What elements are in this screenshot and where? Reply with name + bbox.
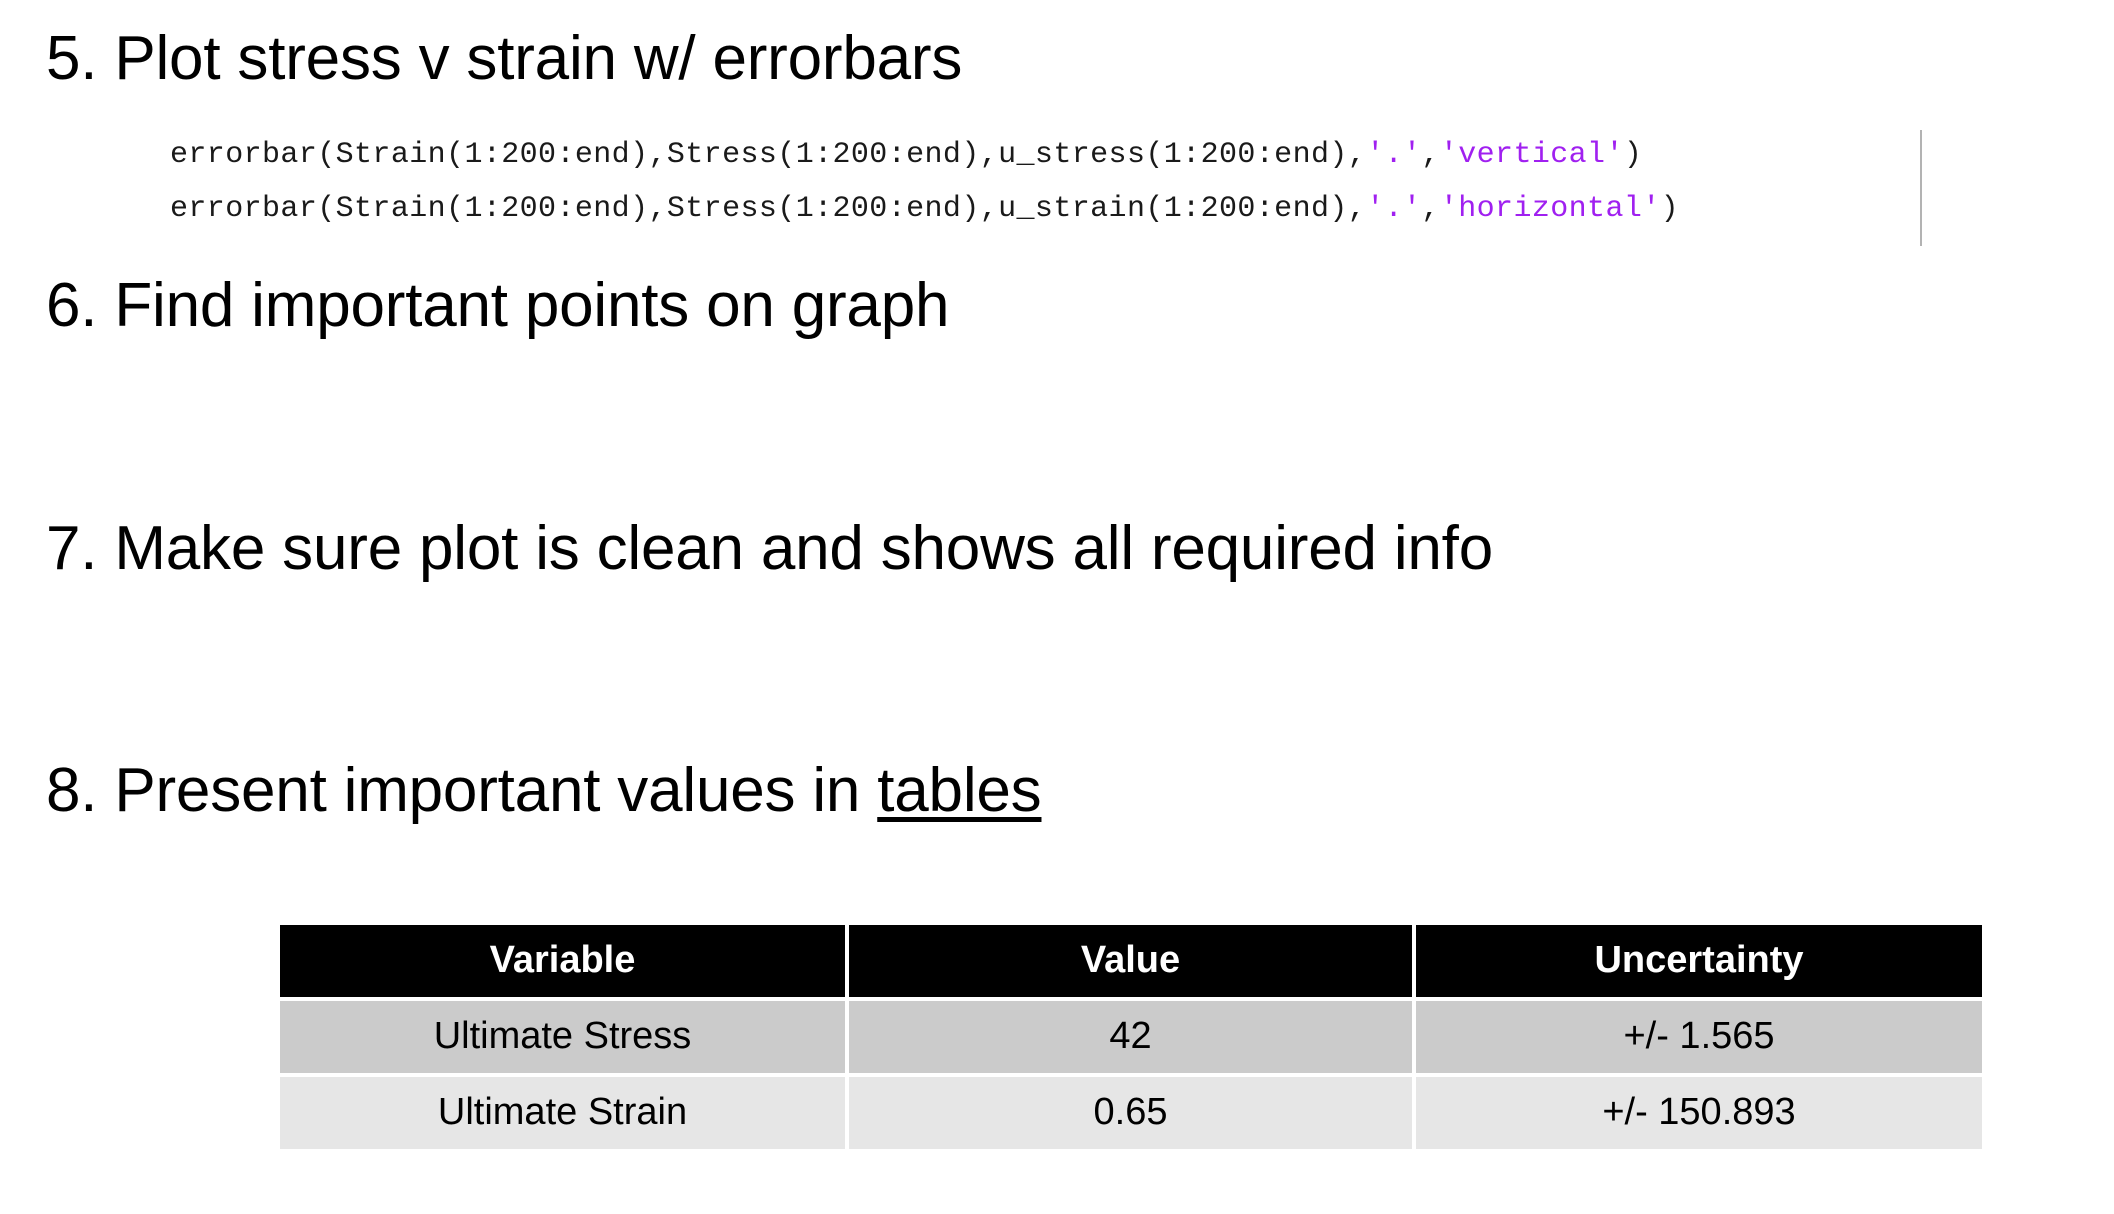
bullet-item-5: 5. Plot stress v strain w/ errorbars <box>46 28 962 90</box>
results-table-head: Variable Value Uncertainty <box>280 925 1982 997</box>
table-header-uncertainty: Uncertainty <box>1416 925 1982 997</box>
code-line-2-string-1: '.' <box>1366 192 1421 226</box>
bullet-item-8-emphasis: tables <box>877 756 1041 825</box>
table-cell-value: 42 <box>849 1001 1412 1073</box>
code-line-2-suffix: ) <box>1661 192 1679 226</box>
code-line-1-suffix: ) <box>1624 138 1642 172</box>
text-frame-edge <box>1920 130 1922 246</box>
code-line-2[interactable]: errorbar(Strain(1:200:end),Stress(1:200:… <box>170 182 1679 236</box>
table-cell-variable: Ultimate Strain <box>280 1077 845 1149</box>
table-header-variable: Variable <box>280 925 845 997</box>
code-line-1-string-1: '.' <box>1366 138 1421 172</box>
table-cell-variable: Ultimate Stress <box>280 1001 845 1073</box>
code-block[interactable]: errorbar(Strain(1:200:end),Stress(1:200:… <box>170 128 1679 236</box>
table-row: Ultimate Strain 0.65 +/- 150.893 <box>280 1077 1982 1149</box>
table-cell-uncertainty: +/- 1.565 <box>1416 1001 1982 1073</box>
bullet-item-6: 6. Find important points on graph <box>46 275 949 337</box>
bullet-item-8: 8. Present important values in tables <box>46 760 1041 822</box>
results-table-body: Ultimate Stress 42 +/- 1.565 Ultimate St… <box>280 1001 1982 1149</box>
code-line-1[interactable]: errorbar(Strain(1:200:end),Stress(1:200:… <box>170 128 1679 182</box>
slide-canvas: 5. Plot stress v strain w/ errorbars err… <box>0 0 2114 1214</box>
code-line-1-comma: , <box>1421 138 1439 172</box>
code-line-1-plain: errorbar(Strain(1:200:end),Stress(1:200:… <box>170 138 1366 172</box>
code-line-2-string-2: 'horizontal' <box>1440 192 1661 226</box>
table-cell-value: 0.65 <box>849 1077 1412 1149</box>
bullet-item-8-prefix: 8. Present important values in <box>46 756 877 825</box>
code-line-1-string-2: 'vertical' <box>1440 138 1624 172</box>
table-header-row: Variable Value Uncertainty <box>280 925 1982 997</box>
code-line-2-plain: errorbar(Strain(1:200:end),Stress(1:200:… <box>170 192 1366 226</box>
table-header-value: Value <box>849 925 1412 997</box>
table-cell-uncertainty: +/- 150.893 <box>1416 1077 1982 1149</box>
table-row: Ultimate Stress 42 +/- 1.565 <box>280 1001 1982 1073</box>
code-line-2-comma: , <box>1421 192 1439 226</box>
results-table: Variable Value Uncertainty Ultimate Stre… <box>276 921 1986 1153</box>
bullet-item-7: 7. Make sure plot is clean and shows all… <box>46 518 1493 580</box>
